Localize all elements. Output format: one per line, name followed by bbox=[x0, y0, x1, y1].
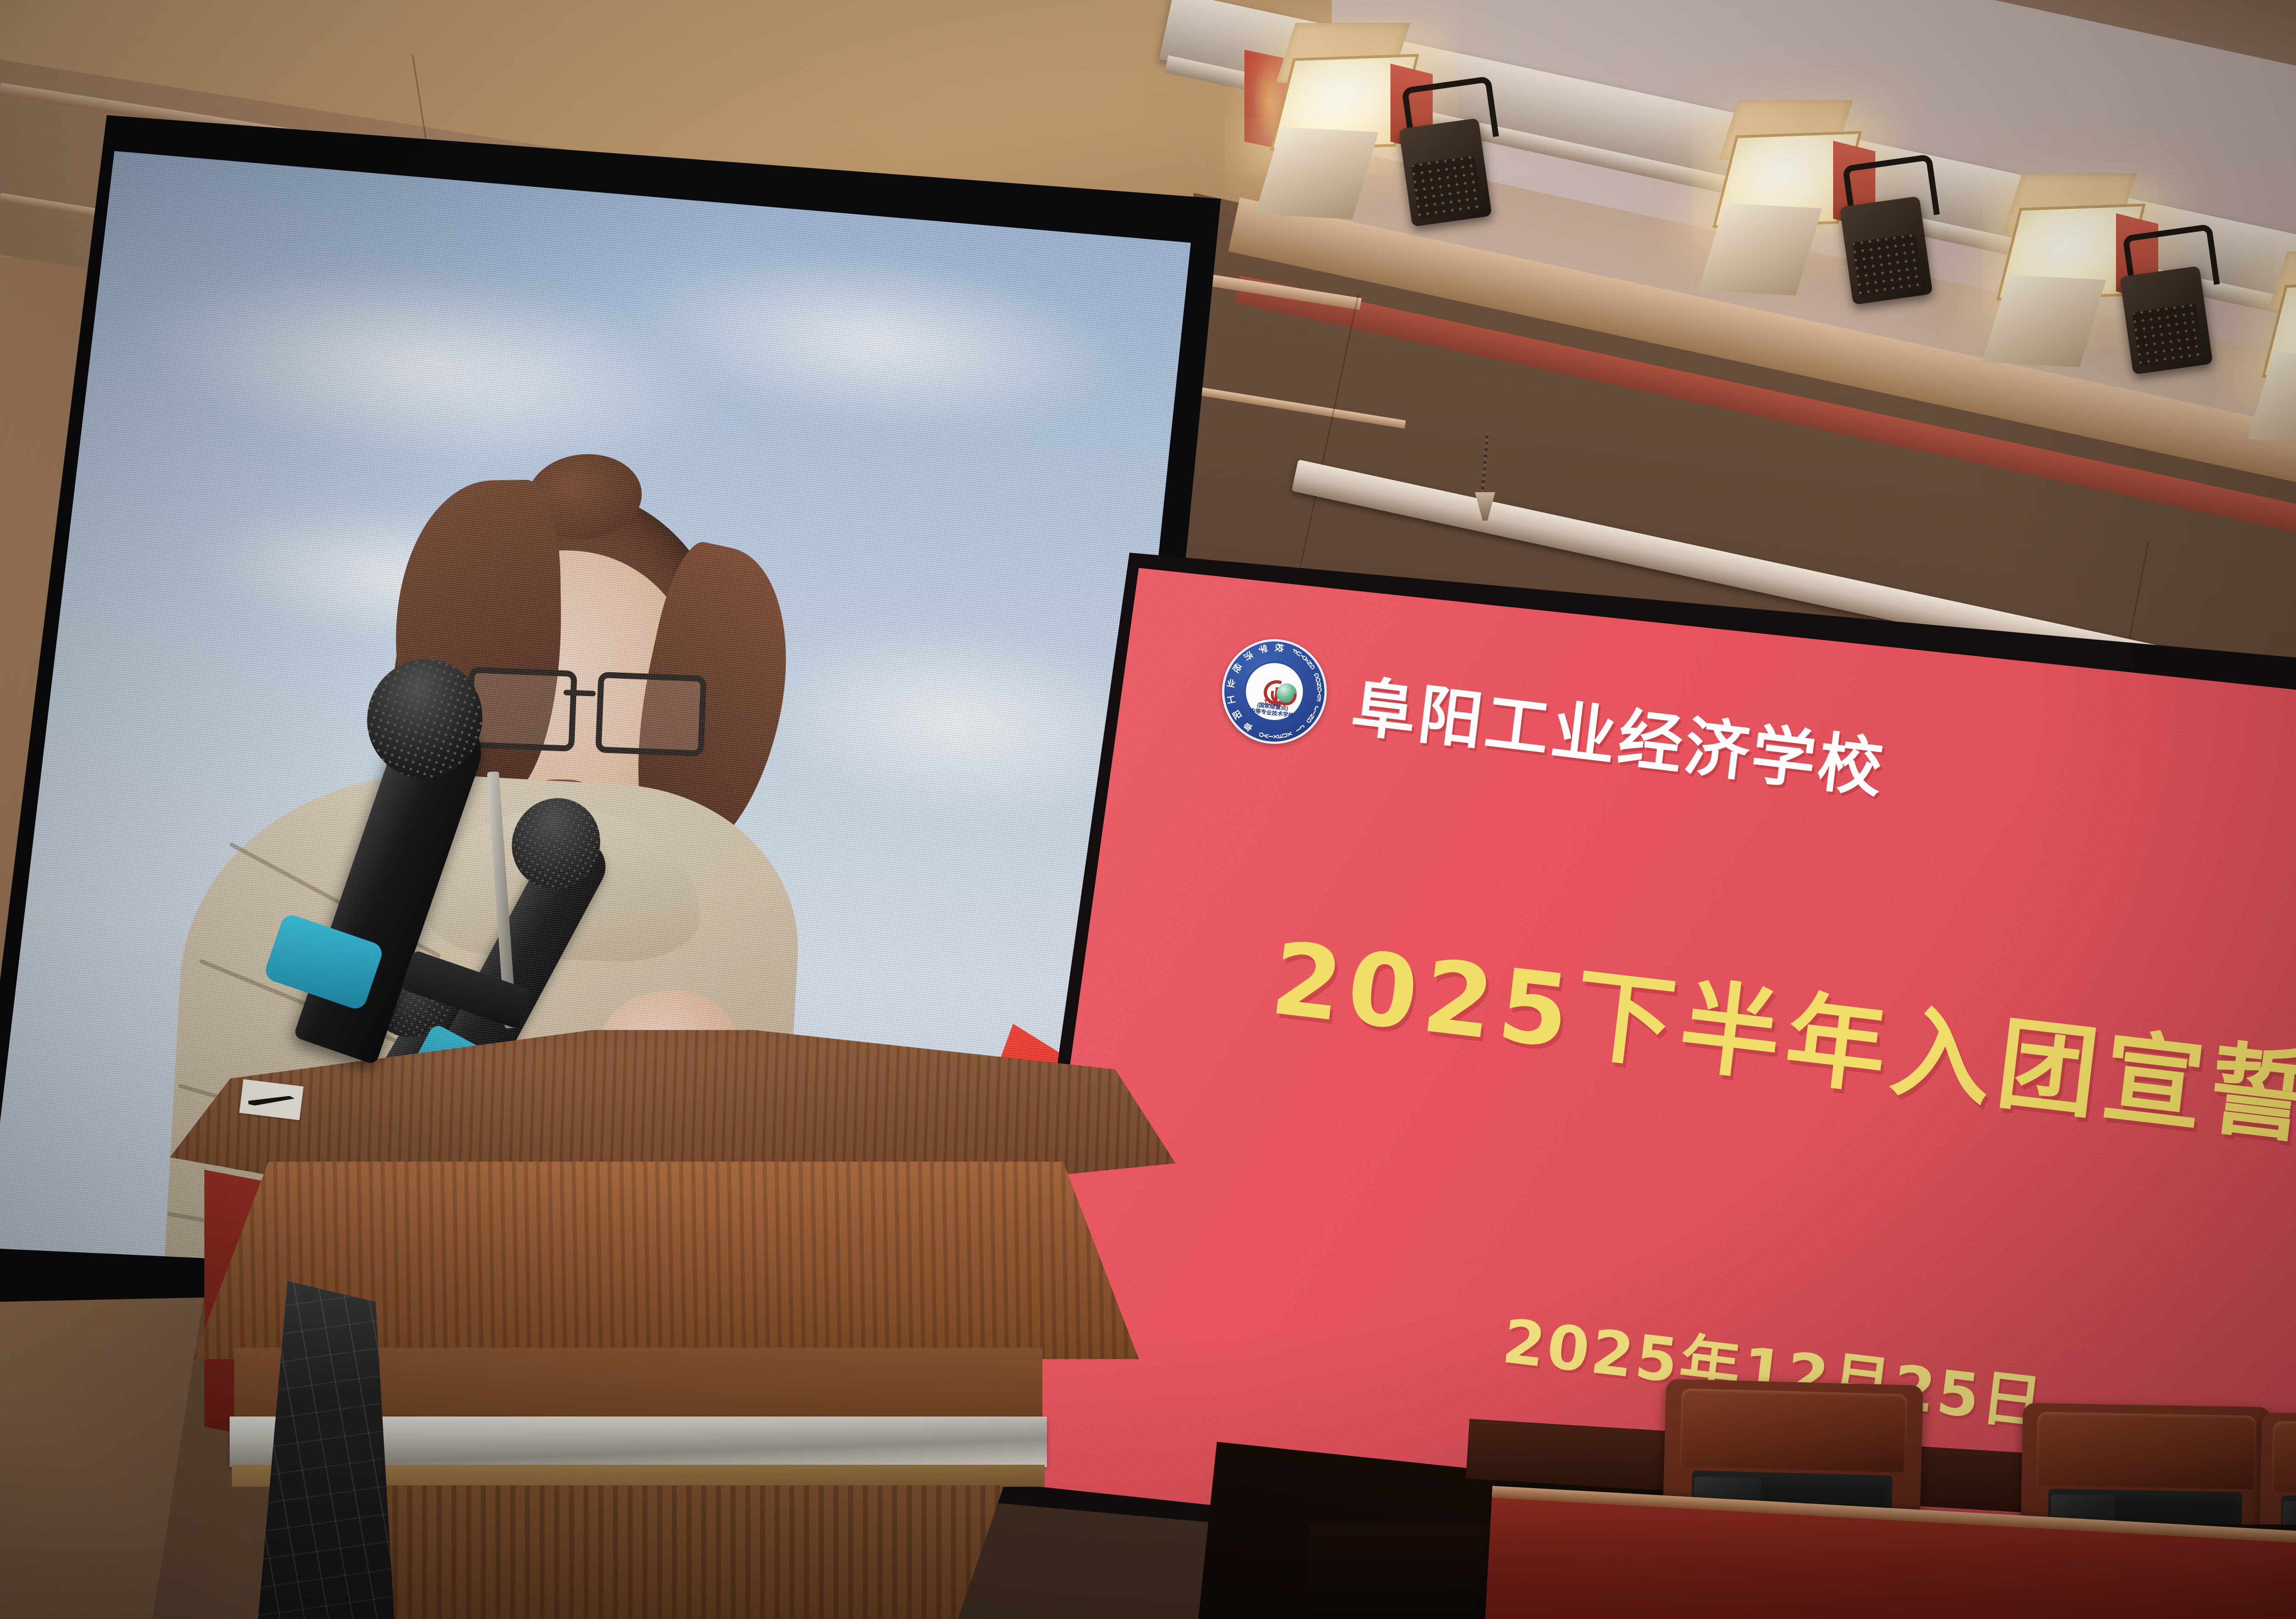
eyeglass-lens-left bbox=[466, 667, 578, 752]
school-name-text: 阜阳工业经济学校 bbox=[1347, 655, 1891, 810]
lectern-desktop-grain bbox=[170, 1024, 1176, 1175]
led-par-can-1 bbox=[1399, 118, 1492, 227]
school-crest-logo: 阜阳工业经济学校 FUYANG GONGYE JING JI XUEXIAO 1… bbox=[1216, 633, 1333, 749]
chair-2-crest-rail bbox=[2037, 1411, 2256, 1489]
auditorium-stage-photo: 阜阳工业经济学校 FUYANG GONGYE JING JI XUEXIAO 1… bbox=[0, 0, 2296, 1619]
led-par-can-3 bbox=[2120, 266, 2213, 375]
chair-1-crest-rail bbox=[1679, 1388, 1908, 1473]
par-can-lens-2 bbox=[1852, 234, 1923, 297]
nike-swoosh-sticker bbox=[239, 1079, 304, 1120]
par-can-lens-3 bbox=[2132, 304, 2203, 367]
par-can-lens-1 bbox=[1411, 156, 1482, 219]
banner-header: 阜阳工业经济学校 FUYANG GONGYE JING JI XUEXIAO 1… bbox=[1216, 633, 1892, 816]
lectern-desktop bbox=[170, 1024, 1176, 1175]
speaker-eyeglasses bbox=[466, 667, 698, 749]
eyeglass-lens-right bbox=[595, 672, 707, 757]
event-title-text: 2025下半年入团宣誓大会 bbox=[1265, 897, 2296, 1188]
chair-3-crest-rail bbox=[2272, 1421, 2296, 1495]
sky-cloud-1 bbox=[123, 240, 737, 496]
led-par-can-2 bbox=[1840, 196, 1933, 305]
